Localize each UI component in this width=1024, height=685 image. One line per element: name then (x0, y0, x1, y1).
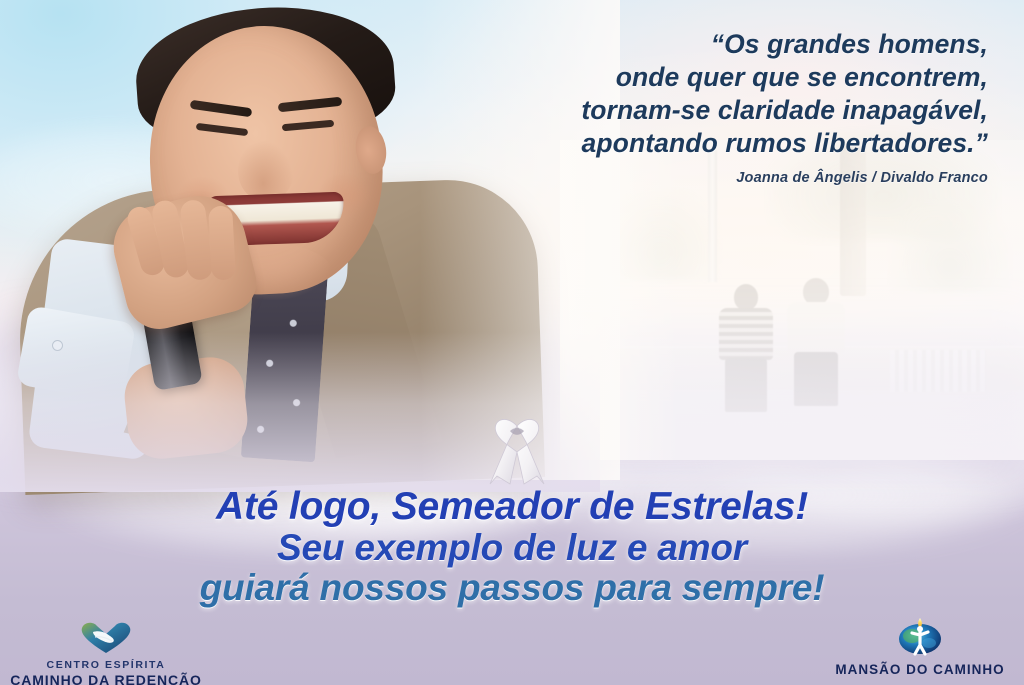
quote-line-3: tornam-se claridade inapagável, (440, 94, 988, 127)
quote-line-2: onde quer que se encontrem, (440, 61, 988, 94)
quote-line-1: “Os grandes homens, (440, 28, 988, 61)
figure-child-striped-shirt (718, 284, 774, 410)
logo-left-title-bottom: CAMINHO DA REDENÇÃO (6, 672, 206, 685)
quote-line-4: apontando rumos libertadores.” (440, 127, 988, 160)
background-scene-photo (590, 150, 1024, 450)
quote-attribution: Joanna de Ângelis / Divaldo Franco (440, 170, 988, 186)
tree-trunk (840, 146, 866, 296)
quote-text: “Os grandes homens, onde quer que se enc… (440, 28, 988, 160)
figure-torso (719, 308, 773, 360)
globe-figure-flame-icon (820, 616, 1020, 661)
heart-hands-icon (6, 620, 206, 659)
figure-legs (794, 352, 838, 406)
figure-head (734, 284, 758, 310)
logo-centro-espirita: CENTRO ESPÍRITA CAMINHO DA REDENÇÃO (6, 620, 206, 685)
headline-line-2: Seu exemplo de luz e amor (0, 528, 1024, 568)
finger (208, 205, 236, 280)
logo-right-title: MANSÃO DO CAMINHO (820, 661, 1020, 678)
figure-legs (725, 358, 767, 412)
headline-line-3: guiará nossos passos para sempre! (0, 568, 1024, 608)
headline-block: Até logo, Semeador de Estrelas! Seu exem… (0, 486, 1024, 608)
fence-railing (890, 350, 986, 392)
headline-line-1: Até logo, Semeador de Estrelas! (0, 486, 1024, 528)
figure-head (803, 278, 829, 305)
logo-mansao-do-caminho: MANSÃO DO CAMINHO (820, 616, 1020, 678)
figure-adult-white-shirt (785, 278, 847, 410)
logo-left-title-top: CENTRO ESPÍRITA (6, 659, 206, 672)
palm-foliage (890, 202, 1010, 292)
figure-torso (787, 302, 845, 354)
memorial-poster: “Os grandes homens, onde quer que se enc… (0, 0, 1024, 685)
white-mourning-ribbon-icon (486, 412, 548, 486)
